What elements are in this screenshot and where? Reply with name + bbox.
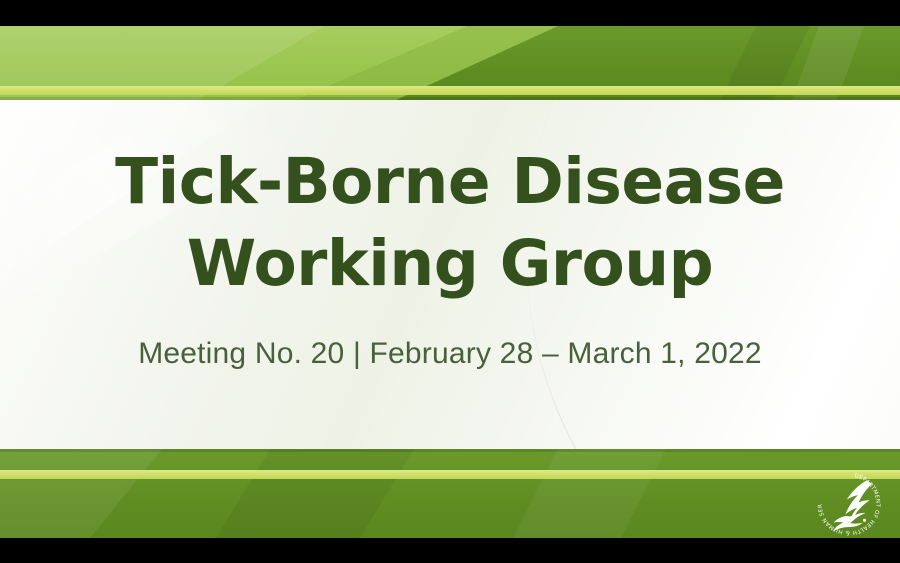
- slide-frame: DEPARTMENT OF HEALTH & HUMAN SERVICES · …: [0, 0, 900, 563]
- footer-accent-stripe: [0, 470, 900, 479]
- letterbox-bar-bottom: [0, 538, 900, 563]
- slide-canvas: DEPARTMENT OF HEALTH & HUMAN SERVICES · …: [0, 26, 900, 538]
- header-green-band: [0, 26, 900, 100]
- band-bottom-edge: [0, 97, 900, 100]
- letterbox-bar-top: [0, 0, 900, 26]
- header-accent-stripe: [0, 86, 900, 95]
- band-top-edge: [0, 449, 900, 452]
- hhs-seal-logo: DEPARTMENT OF HEALTH & HUMAN SERVICES · …: [812, 467, 886, 538]
- background-streak: [0, 62, 298, 320]
- footer-green-band: [0, 449, 900, 538]
